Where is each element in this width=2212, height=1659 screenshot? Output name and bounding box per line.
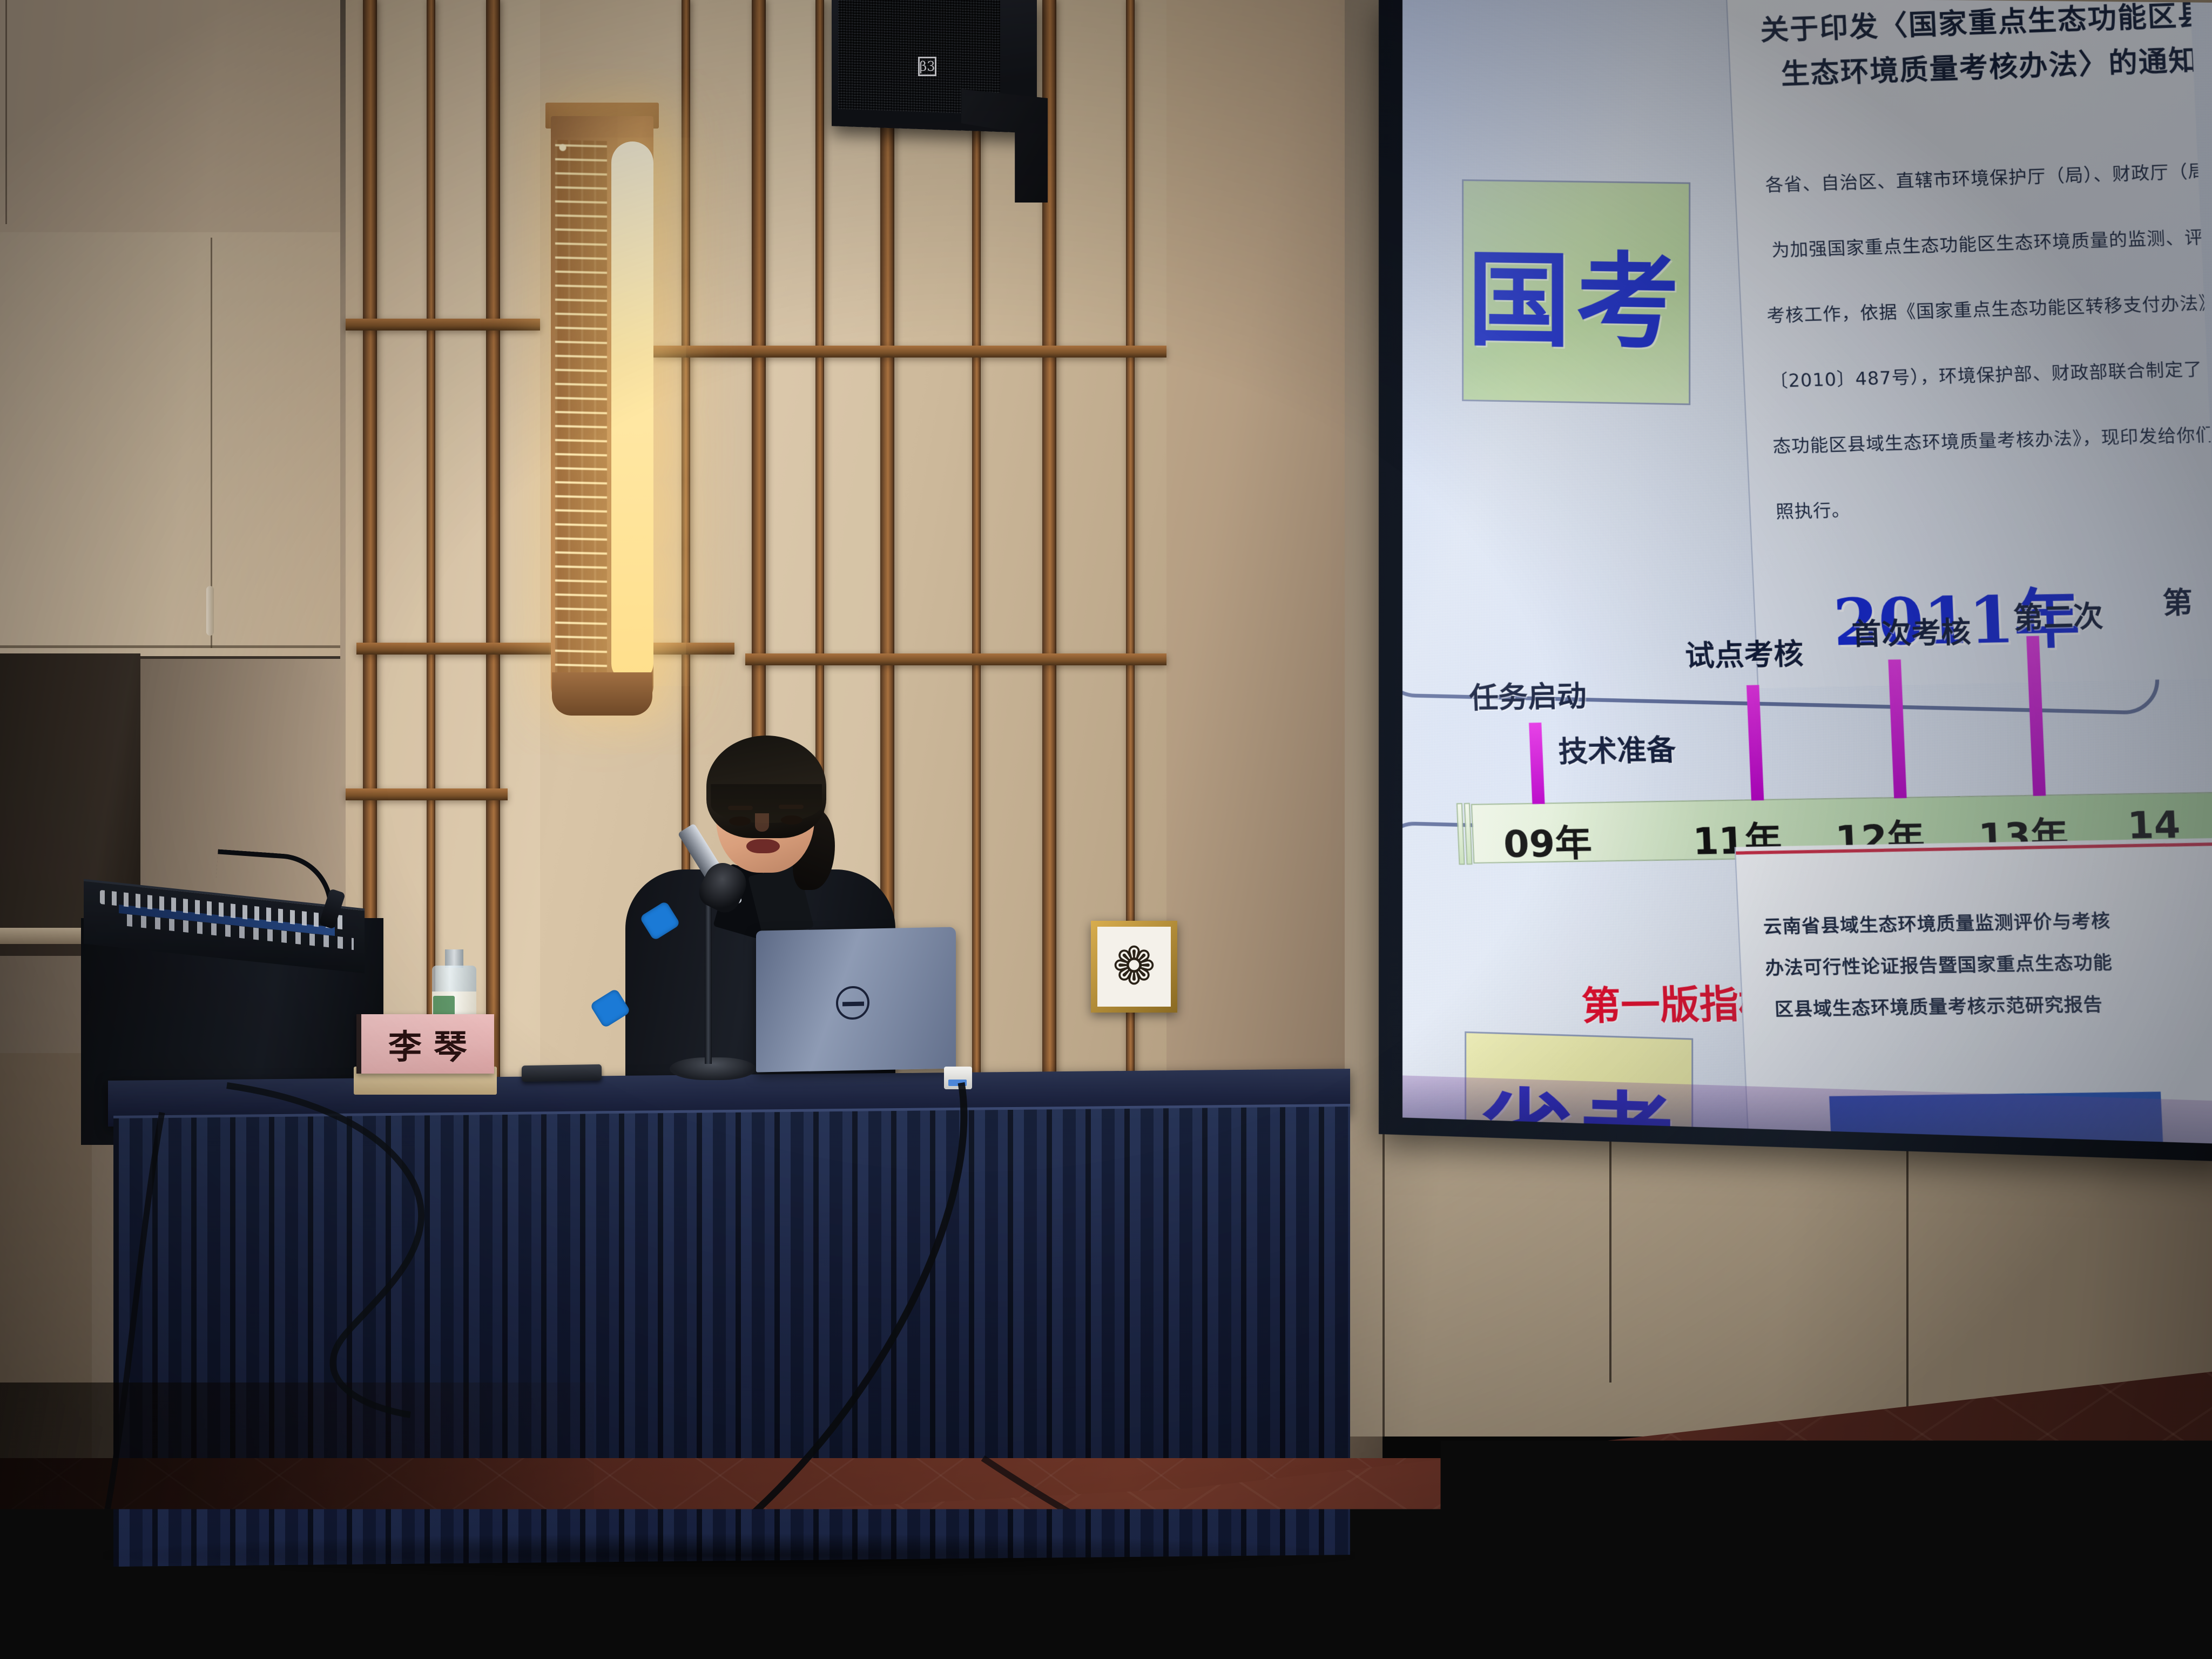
floor-shadow-left xyxy=(0,1382,594,1659)
plug xyxy=(69,1539,91,1569)
projection-screen: 关于印发〈国家重点生态功能区县域 生态环境质量考核办法〉的通知 各省、自治区、直… xyxy=(1379,0,2212,1162)
timeline-milestone-label: 任务启动 xyxy=(1468,672,1587,717)
sconce-light-panel xyxy=(611,141,653,682)
timeline-tick xyxy=(1746,685,1764,800)
eye-left xyxy=(729,817,751,826)
notice-body-line: 各省、自治区、直辖市环境保护厅（局）、财政厅（局）： xyxy=(1764,156,2212,197)
notice-body-line: 考核工作，依据《国家重点生态功能区转移支付办法》（财预 xyxy=(1766,287,2212,328)
timeline-tick xyxy=(1888,659,1906,798)
speaker-brand-logo: β3 xyxy=(918,57,936,76)
nose xyxy=(755,813,769,832)
lower-cabinet xyxy=(0,232,340,659)
eyebrow-right xyxy=(779,805,804,809)
eyebrow-left xyxy=(728,806,753,810)
wall-slat-horizontal xyxy=(745,653,1166,665)
wall-slat-horizontal xyxy=(653,346,1166,358)
notice-body-line: 态功能区县域生态环境质量考核办法》，现印发给你们，请遵 xyxy=(1772,419,2212,458)
wall-slat-horizontal xyxy=(346,319,540,331)
wall-slat xyxy=(972,0,981,1085)
eye-right xyxy=(781,815,802,825)
cabinet-handle[interactable] xyxy=(206,586,214,636)
wall-slat-horizontal xyxy=(356,643,734,655)
timeline-endcap xyxy=(1456,803,1465,865)
conference-room-photo: β3 ❁ 关于印发〈国家重点生态功能区县域 生态环境质量考核办法〉的通知 各省、… xyxy=(0,0,2212,1659)
mobile-phone[interactable] xyxy=(522,1064,602,1082)
notice-body-line: 为加强国家重点生态功能区生态环境质量的监测、评估和 xyxy=(1771,221,2212,262)
nameplate: 李琴 xyxy=(356,1014,494,1074)
notice-body-line: 照执行。 xyxy=(1775,495,1851,523)
chrysanthemum-icon: ❁ xyxy=(1112,941,1156,993)
plug xyxy=(100,1537,121,1567)
timeline-tick xyxy=(2026,636,2046,796)
slide-surface: 关于印发〈国家重点生态功能区县域 生态环境质量考核办法〉的通知 各省、自治区、直… xyxy=(1402,0,2212,1144)
nameplate-name: 李琴 xyxy=(376,1020,479,1068)
notice-body-line: 〔2010〕487号），环境保护部、财政部联合制定了《国家重点生 xyxy=(1769,351,2212,393)
report-title-line: 区县域生态环境质量考核示范研究报告 xyxy=(1774,989,2103,1021)
wall-seam xyxy=(1906,1145,1908,1426)
microphone-base xyxy=(670,1057,756,1080)
wall-slat xyxy=(486,0,500,1085)
timeline-milestone-label: 首次考核 xyxy=(1851,608,1972,653)
timeline-year: 09年 xyxy=(1502,813,1593,868)
tag-national-exam: 国考 xyxy=(1462,179,1690,405)
sconce-lattice-pattern xyxy=(555,140,607,681)
timeline-milestone-label: 第二次 xyxy=(2012,592,2104,637)
timeline-tick xyxy=(1529,723,1545,804)
cabinet-seam xyxy=(0,645,340,648)
wall-slat-horizontal xyxy=(346,788,508,800)
power-adapter xyxy=(944,1067,972,1089)
power-strip-switch[interactable] xyxy=(113,1591,136,1604)
timeline-milestone-label: 技术准备 xyxy=(1557,726,1677,771)
timeline-milestone-label: 第 xyxy=(2162,578,2194,622)
report-title-line: 办法可行性论证报告暨国家重点生态功能 xyxy=(1764,948,2113,980)
mouth xyxy=(746,839,780,853)
wall-slat xyxy=(427,0,435,1085)
report-title-line: 云南省县域生态环境质量监测评价与考核 xyxy=(1763,906,2111,939)
wall-seam xyxy=(1382,1134,1385,1437)
wall-art-panel: ❁ xyxy=(1097,927,1171,1007)
timeline-milestone-label: 试点考核 xyxy=(1684,630,1804,675)
microphone-stand xyxy=(705,896,712,1064)
